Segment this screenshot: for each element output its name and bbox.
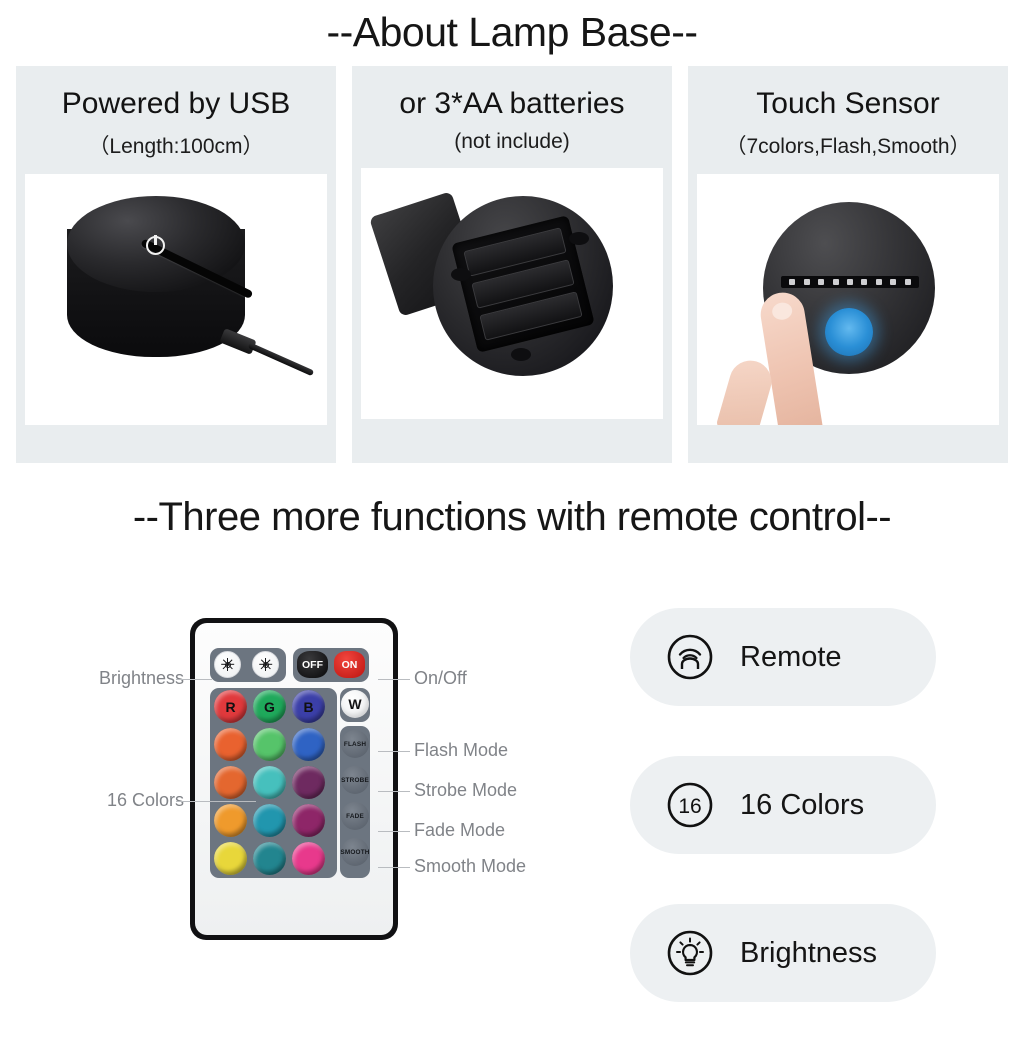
brightness-down-button[interactable] [252,651,279,678]
color-button[interactable] [214,728,247,761]
white-button[interactable]: W [341,690,369,718]
flash-button[interactable]: FLASH [341,730,369,758]
rubber-foot [569,232,589,245]
smooth-button[interactable]: SMOOTH [341,838,369,866]
color-button[interactable] [214,766,247,799]
fade-button[interactable]: FADE [341,802,369,830]
pill-label: Remote [740,641,842,674]
touch-sensor-photo [697,174,999,425]
leader-line [378,791,410,792]
led-strip [781,276,919,288]
led-dot [861,279,867,285]
led-dot [847,279,853,285]
pill-label: 16 Colors [740,789,864,822]
touch-sensor-button[interactable] [825,308,873,356]
card-title: or 3*AA batteries [399,86,624,121]
callout-flash-mode: Flash Mode [414,740,508,761]
led-dot [833,279,839,285]
color-button[interactable] [292,804,325,837]
lamp-base-usb-photo [25,174,327,425]
usb-wire [248,343,314,377]
leader-line [378,751,410,752]
color-button[interactable] [292,842,325,875]
pill-16-colors[interactable]: 16 16 Colors [630,756,936,854]
card-subtitle: (not include) [454,130,570,154]
callout-strobe-mode: Strobe Mode [414,780,517,801]
color-button[interactable] [214,842,247,875]
led-dot [905,279,911,285]
color-button[interactable] [253,842,286,875]
lamp-base-underside [433,196,613,376]
pill-remote[interactable]: Remote [630,608,936,706]
page-title-lamp-base: --About Lamp Base-- [0,9,1024,56]
card-powered-by-usb: Powered by USB （Length:100cm） [16,66,336,463]
leader-line [176,801,256,802]
fingernail [771,302,793,322]
color-button-b[interactable]: B [292,690,325,723]
battery-compartment-photo [361,168,663,419]
leader-line [176,679,212,680]
sixteen-circle-icon: 16 [666,781,714,829]
color-button[interactable] [292,728,325,761]
callout-fade-mode: Fade Mode [414,820,505,841]
color-button[interactable] [253,804,286,837]
thumb-illustration [716,356,777,425]
card-title: Powered by USB [62,86,290,121]
led-dot [804,279,810,285]
leader-line [378,679,410,680]
off-button[interactable]: OFF [297,651,328,678]
callout-brightness: Brightness [64,668,184,689]
pill-label: Brightness [740,937,877,970]
color-button-g[interactable]: G [253,690,286,723]
remote-signal-icon [666,633,714,681]
remote-control[interactable]: OFF ON W RGB FLASH STROBE FADE SMOOTH [190,618,398,940]
led-dot [789,279,795,285]
led-dot [890,279,896,285]
card-subtitle: （7colors,Flash,Smooth） [725,130,970,160]
card-title: Touch Sensor [756,86,939,121]
sun-icon [221,658,234,671]
color-button-r[interactable]: R [214,690,247,723]
card-touch-sensor: Touch Sensor （7colors,Flash,Smooth） [688,66,1008,463]
lamp-base-top [67,196,245,292]
lightbulb-icon [666,929,714,977]
callout-on-off: On/Off [414,668,467,689]
rubber-foot [511,348,531,361]
card-aa-batteries: or 3*AA batteries (not include) [352,66,672,463]
color-button[interactable] [253,728,286,761]
leader-line [378,867,410,868]
callout-16-colors: 16 Colors [64,790,184,811]
strobe-button[interactable]: STROBE [341,766,369,794]
card-subtitle: （Length:100cm） [88,130,263,160]
page-title-remote-functions: --Three more functions with remote contr… [0,495,1024,540]
leader-line [378,831,410,832]
sun-icon [259,658,272,671]
feature-pills: Remote 16 16 Colors Brightness [630,608,936,1052]
led-dot [818,279,824,285]
pill-brightness[interactable]: Brightness [630,904,936,1002]
lamp-base-cards: Powered by USB （Length:100cm） or 3*AA ba… [16,66,1008,463]
svg-text:16: 16 [678,795,701,818]
color-button[interactable] [253,766,286,799]
callout-smooth-mode: Smooth Mode [414,856,526,877]
color-button[interactable] [292,766,325,799]
led-dot [876,279,882,285]
brightness-up-button[interactable] [214,651,241,678]
color-button[interactable] [214,804,247,837]
on-button[interactable]: ON [334,651,365,678]
usb-cable [221,326,317,360]
